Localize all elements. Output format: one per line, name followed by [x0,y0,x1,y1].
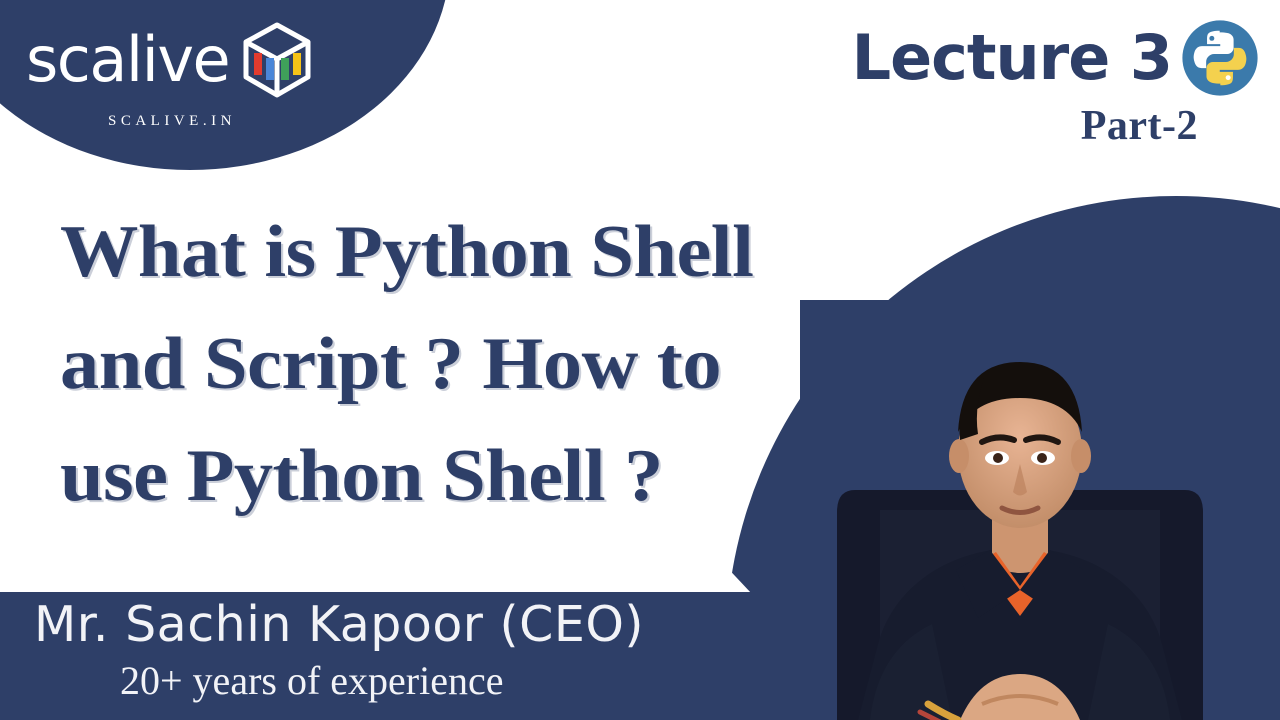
presenter-name: Mr. Sachin Kapoor (CEO) [34,598,644,652]
brand-row: scalive [26,20,315,100]
lecture-title-row: Lecture 3 [852,18,1260,98]
page-title: What is Python Shell and Script ? How to… [60,196,961,532]
lecture-label: Lecture 3 [852,23,1172,93]
cube-logo-icon [239,20,315,100]
white-wedge-divider [0,560,752,594]
lecture-part-label: Part-2 [852,104,1198,148]
brand-website: SCALIVE.IN [108,113,236,130]
presenter-experience: 20+ years of experience [120,658,503,704]
brand-logo-block: scalive SCALIVE.IN [0,0,440,170]
python-logo-icon [1180,18,1260,98]
video-thumbnail: scalive SCALIVE.IN Lecture 3 [0,0,1280,720]
headline-line-3: use Python Shell ? [60,420,961,532]
lecture-header-block: Lecture 3 Part-2 [852,18,1260,148]
headline-line-1: What is Python Shell [60,196,961,308]
headline-line-2: and Script ? How to [60,308,961,420]
brand-wordmark: scalive [26,29,229,91]
